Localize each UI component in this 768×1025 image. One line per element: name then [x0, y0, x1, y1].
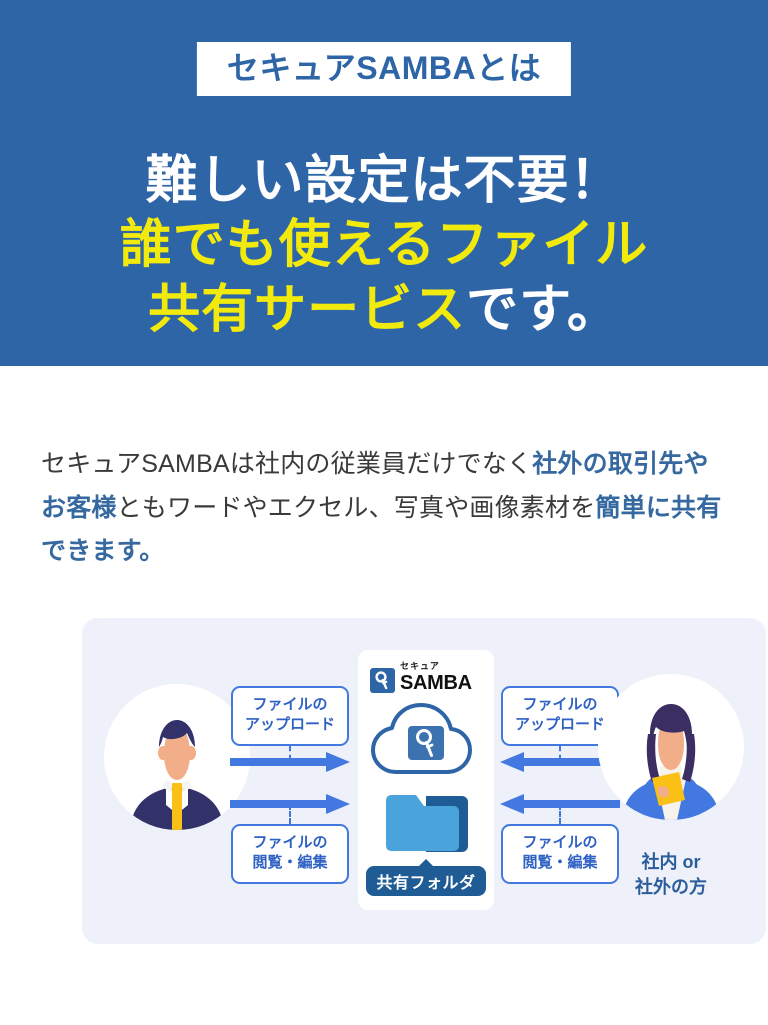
headline-line-1: 難しい設定は不要！ [0, 149, 768, 213]
samba-logo-sub: セキュア [400, 662, 472, 671]
flow-label-left-upload: ファイルの アップロード [231, 686, 349, 746]
landing-page: セキュアSAMBAとは 難しい設定は不要！ 誰でも使えるファイル 共有サービスで… [0, 0, 768, 1025]
samba-logo: セキュア SAMBA [370, 662, 472, 693]
cloud-shape [366, 702, 486, 782]
flow-label-left-view-line1: ファイルの [252, 834, 327, 851]
flow-label-right-upload-line2: アップロード [515, 716, 605, 733]
connector-right-bottom [559, 804, 561, 824]
flow-label-right-view-line2: 閲覧・編集 [522, 854, 597, 871]
connector-left-bottom [289, 804, 291, 824]
hero-headline: 難しい設定は不要！ 誰でも使えるファイル 共有サービスです。 [0, 149, 768, 342]
hero-badge: セキュアSAMBAとは [197, 42, 571, 96]
headline-line-2: 誰でも使えるファイル [0, 213, 768, 277]
cloud-key-icon [366, 702, 486, 782]
avatar-right [598, 674, 744, 820]
key-square-icon [370, 668, 395, 693]
businessman-avatar-icon [104, 684, 250, 830]
file-sharing-diagram: ファイルの アップロード ファイルの 閲覧・編集 [82, 618, 766, 944]
headline-line-3-white: です。 [466, 281, 620, 339]
flow-label-left-view-line2: 閲覧・編集 [252, 854, 327, 871]
flow-label-right-view-line1: ファイルの [522, 834, 597, 851]
badge-pointer [418, 859, 434, 867]
avatar-right-caption: 社内 or 社外の方 [590, 850, 752, 900]
lede-segment-1: セキュアSAMBAは社内の従業員だけでなく [41, 450, 532, 478]
flow-label-left-upload-line2: アップロード [245, 716, 335, 733]
avatar-right-caption-line1: 社内 or [641, 852, 700, 872]
lede-paragraph: セキュアSAMBAは社内の従業員だけでなく社外の取引先やお客様ともワードやエクセ… [41, 443, 733, 574]
samba-logo-main: SAMBA [400, 673, 472, 693]
folder-shape [382, 792, 470, 854]
flow-label-left-upload-line1: ファイルの [252, 696, 327, 713]
samba-logo-text: セキュア SAMBA [400, 662, 472, 693]
avatar-right-caption-line2: 社外の方 [635, 877, 707, 897]
service-card: セキュア SAMBA [358, 650, 494, 910]
avatar-left [104, 684, 250, 830]
flow-label-right-upload-line1: ファイルの [522, 696, 597, 713]
arrow-left-to-center-top [230, 752, 350, 772]
shared-folder-label: 共有フォルダ [376, 869, 475, 893]
shared-folder-badge: 共有フォルダ [366, 866, 486, 896]
headline-line-3-yellow: 共有サービス [148, 281, 466, 339]
lede-segment-2: ともワードやエクセル、写真や画像素材を [117, 494, 596, 522]
hero-section: セキュアSAMBAとは 難しい設定は不要！ 誰でも使えるファイル 共有サービスで… [0, 0, 768, 366]
headline-line-3: 共有サービスです。 [0, 278, 768, 342]
folder-icon [382, 792, 470, 854]
flow-label-left-view-edit: ファイルの 閲覧・編集 [231, 824, 349, 884]
businesswoman-avatar-icon [598, 674, 744, 820]
